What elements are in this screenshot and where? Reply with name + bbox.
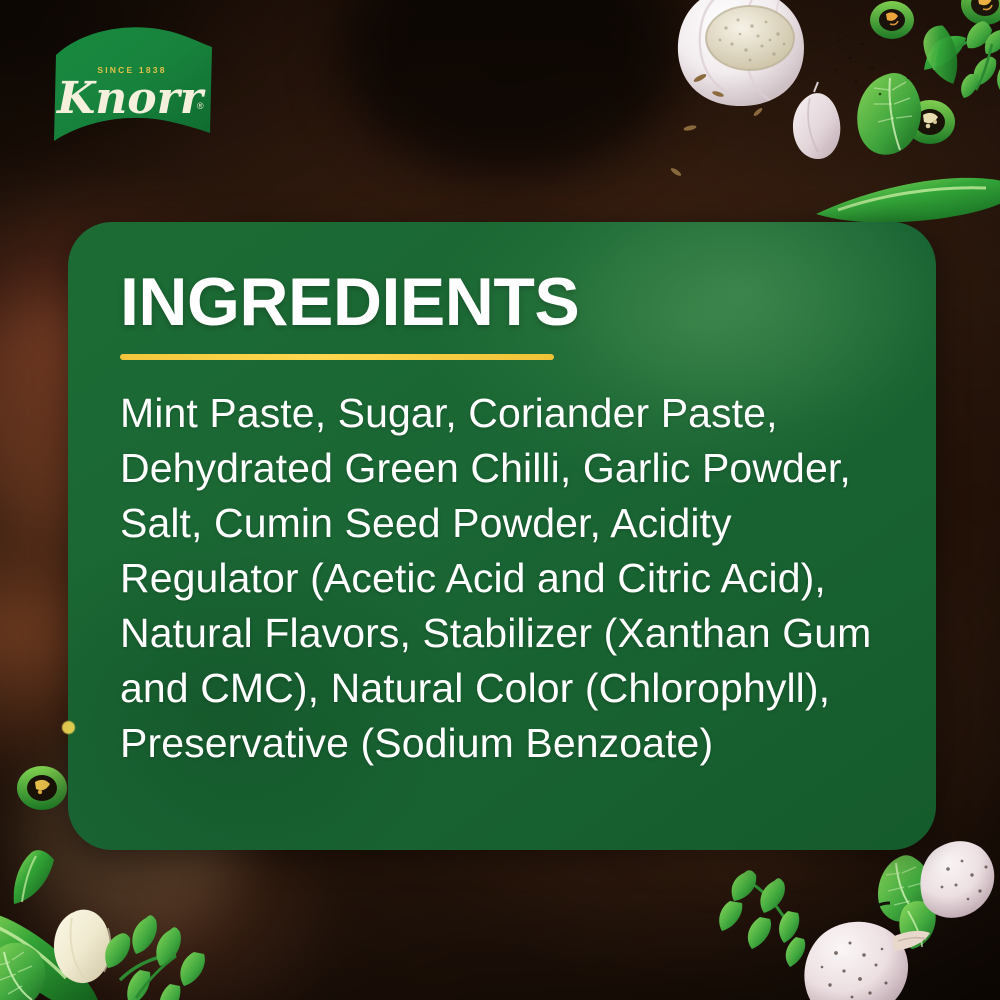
garlic-clove-icon [920,841,994,918]
accent-dot [62,721,75,734]
coriander-leaf-icon [105,915,205,1000]
garnish-group-top-right [640,0,1000,222]
green-chilli-icon [816,178,1000,223]
coriander-leaf-icon [719,870,805,967]
ingredients-text: Mint Paste, Sugar, Coriander Paste, Dehy… [120,386,884,771]
page-title: INGREDIENTS [120,268,884,336]
knorr-registered-mark: ® [197,101,204,111]
coriander-leaf-icon [958,21,1000,98]
garlic-bulb-icon [678,0,804,106]
title-divider [120,354,554,360]
garlic-clove-icon [804,922,930,1000]
ingredients-panel: INGREDIENTS Mint Paste, Sugar, Coriander… [68,222,936,850]
garlic-clove-icon [793,82,840,159]
green-chilli-icon [917,22,968,89]
chilli-slice-icon [961,0,1000,25]
garnish-group-bottom-right [700,845,1000,1000]
chilli-slice-icon [870,1,914,39]
green-chilli-icon [14,850,54,904]
knorr-logo[interactable]: SINCE 1838 Knorr ® [40,25,220,157]
knorr-wordmark: Knorr [55,73,206,124]
mint-leaf-icon [857,73,921,155]
garlic-clove-icon [54,910,111,983]
chilli-slice-icon [17,766,67,810]
